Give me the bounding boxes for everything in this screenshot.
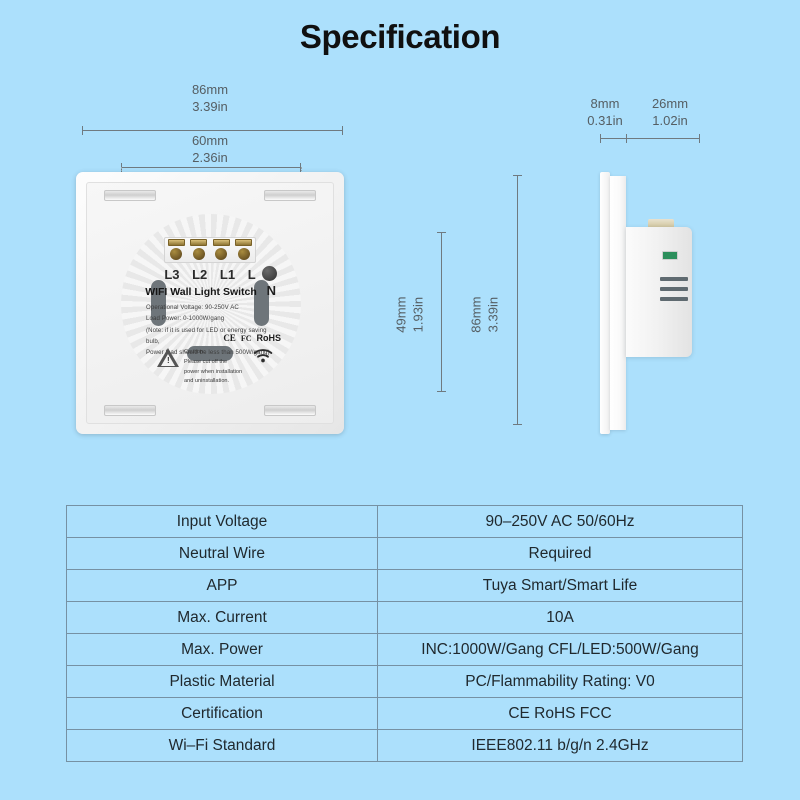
caution-line-1: Caution:	[184, 348, 242, 358]
dimension-front-height: 86mm 3.39in	[468, 283, 501, 347]
mounting-clip-bottom-left	[104, 405, 156, 416]
vent-slot-2	[660, 287, 688, 291]
mounting-clip-top-right	[264, 190, 316, 201]
dimension-front-width-inner-mm: 60mm	[130, 133, 290, 150]
table-row: Certification CE RoHS FCC	[67, 698, 743, 730]
spec-value: INC:1000W/Gang CFL/LED:500W/Gang	[378, 634, 743, 666]
spec-value: 10A	[378, 602, 743, 634]
caution-line-2: Please cut off the	[184, 358, 242, 368]
spec-key: APP	[67, 570, 378, 602]
specification-table: Input Voltage 90–250V AC 50/60Hz Neutral…	[66, 505, 743, 762]
dimension-line-front-width-inner	[121, 167, 301, 168]
switch-front-view: L3 L2 L1 L N WIFI Wall Light Switch Oper…	[76, 172, 344, 434]
side-faceplate-body	[610, 176, 626, 430]
terminal-slot-icon	[190, 239, 207, 246]
terminal-slot-icon	[168, 239, 185, 246]
spec-value: CE RoHS FCC	[378, 698, 743, 730]
dimension-tick-mid	[626, 134, 627, 143]
caution-line-3: power when installation	[184, 368, 242, 378]
table-row: Wi–Fi Standard IEEE802.11 b/g/n 2.4GHz	[67, 730, 743, 762]
terminal-label-l: L	[248, 267, 256, 282]
dimension-body-depth-in: 1.02in	[640, 113, 700, 130]
green-led-indicator	[662, 251, 678, 260]
terminal-screw-l2	[189, 239, 208, 260]
neutral-terminal-dot	[262, 266, 277, 281]
terminal-label-l2: L2	[192, 267, 207, 282]
screw-head-icon	[238, 248, 250, 260]
dimension-body-depth: 26mm 1.02in	[640, 96, 700, 129]
terminal-slot-icon	[235, 239, 252, 246]
spec-key: Certification	[67, 698, 378, 730]
warning-exclamation-icon: !	[167, 356, 170, 365]
rohs-mark-label: RoHS	[257, 333, 282, 343]
terminal-labels: L3 L2 L1 L	[158, 267, 262, 282]
spec-value: IEEE802.11 b/g/n 2.4GHz	[378, 730, 743, 762]
dimension-line-front-width-outer	[82, 130, 343, 131]
dimension-front-height-mm: 86mm	[468, 283, 485, 347]
spec-key: Neutral Wire	[67, 538, 378, 570]
screw-head-icon	[193, 248, 205, 260]
spec-value: 90–250V AC 50/60Hz	[378, 506, 743, 538]
dimension-front-height-in: 3.39in	[485, 283, 502, 347]
terminal-screw-l3	[167, 239, 186, 260]
switch-module: L3 L2 L1 L N WIFI Wall Light Switch Oper…	[126, 219, 294, 387]
mounting-clip-top-left	[104, 190, 156, 201]
certification-marks: CE FC RoHS	[223, 333, 281, 343]
dimension-module-height-mm: 49mm	[393, 283, 410, 347]
dimension-plate-thickness-in: 0.31in	[578, 113, 632, 130]
terminal-label-l1: L1	[220, 267, 235, 282]
ce-mark-icon: CE	[223, 333, 236, 343]
terminal-screw-l1	[212, 239, 231, 260]
dimension-plate-thickness-mm: 8mm	[578, 96, 632, 113]
module-spec-line-1: Operational Voltage: 90-250V AC	[146, 302, 282, 313]
spec-key: Input Voltage	[67, 506, 378, 538]
module-spec-line-2: Load Power: 0-1000W/gang	[146, 313, 282, 324]
side-module-body	[626, 227, 692, 357]
wifi-icon	[253, 348, 273, 363]
dimension-front-width-inner: 60mm 2.36in	[130, 133, 290, 166]
dimension-plate-thickness: 8mm 0.31in	[578, 96, 632, 129]
screw-head-icon	[215, 248, 227, 260]
dimension-front-width-outer-in: 3.39in	[130, 99, 290, 116]
terminal-block	[164, 237, 256, 263]
table-row: Plastic Material PC/Flammability Rating:…	[67, 666, 743, 698]
fcc-mark-icon: FC	[241, 334, 252, 343]
caution-block: ! Caution: Please cut off the power when…	[157, 348, 242, 387]
vent-slot-1	[660, 277, 688, 281]
dimension-line-front-height	[517, 175, 518, 425]
spec-value: Required	[378, 538, 743, 570]
mounting-clip-bottom-right	[264, 405, 316, 416]
module-product-name: WIFI Wall Light Switch	[127, 286, 293, 298]
warning-triangle-icon: !	[157, 348, 179, 367]
dimension-front-width-outer-mm: 86mm	[130, 82, 290, 99]
dimension-module-height: 49mm 1.93in	[393, 283, 426, 347]
spec-key: Plastic Material	[67, 666, 378, 698]
vent-slot-3	[660, 297, 688, 301]
table-row: Max. Current 10A	[67, 602, 743, 634]
dimension-front-width-inner-in: 2.36in	[130, 150, 290, 167]
spec-value: Tuya Smart/Smart Life	[378, 570, 743, 602]
side-faceplate-edge	[600, 172, 610, 434]
dimension-line-side-depth	[600, 138, 700, 139]
spec-key: Wi–Fi Standard	[67, 730, 378, 762]
screw-head-icon	[170, 248, 182, 260]
dimension-body-depth-mm: 26mm	[640, 96, 700, 113]
spec-key: Max. Power	[67, 634, 378, 666]
table-row: Max. Power INC:1000W/Gang CFL/LED:500W/G…	[67, 634, 743, 666]
specification-table-body: Input Voltage 90–250V AC 50/60Hz Neutral…	[67, 506, 743, 762]
product-diagram: 86mm 3.39in 60mm 2.36in 8mm 0.31in 26mm …	[0, 0, 800, 490]
table-row: Neutral Wire Required	[67, 538, 743, 570]
dimension-front-width-outer: 86mm 3.39in	[130, 82, 290, 115]
dimension-module-height-in: 1.93in	[410, 283, 427, 347]
terminal-label-l3: L3	[164, 267, 179, 282]
terminal-screw-l	[234, 239, 253, 260]
dimension-line-module-height	[441, 232, 442, 392]
terminal-slot-icon	[213, 239, 230, 246]
table-row: APP Tuya Smart/Smart Life	[67, 570, 743, 602]
switch-side-view	[600, 172, 710, 434]
spec-key: Max. Current	[67, 602, 378, 634]
table-row: Input Voltage 90–250V AC 50/60Hz	[67, 506, 743, 538]
spec-value: PC/Flammability Rating: V0	[378, 666, 743, 698]
caution-text: Caution: Please cut off the power when i…	[184, 348, 242, 387]
caution-line-4: and uninstallation.	[184, 377, 242, 387]
